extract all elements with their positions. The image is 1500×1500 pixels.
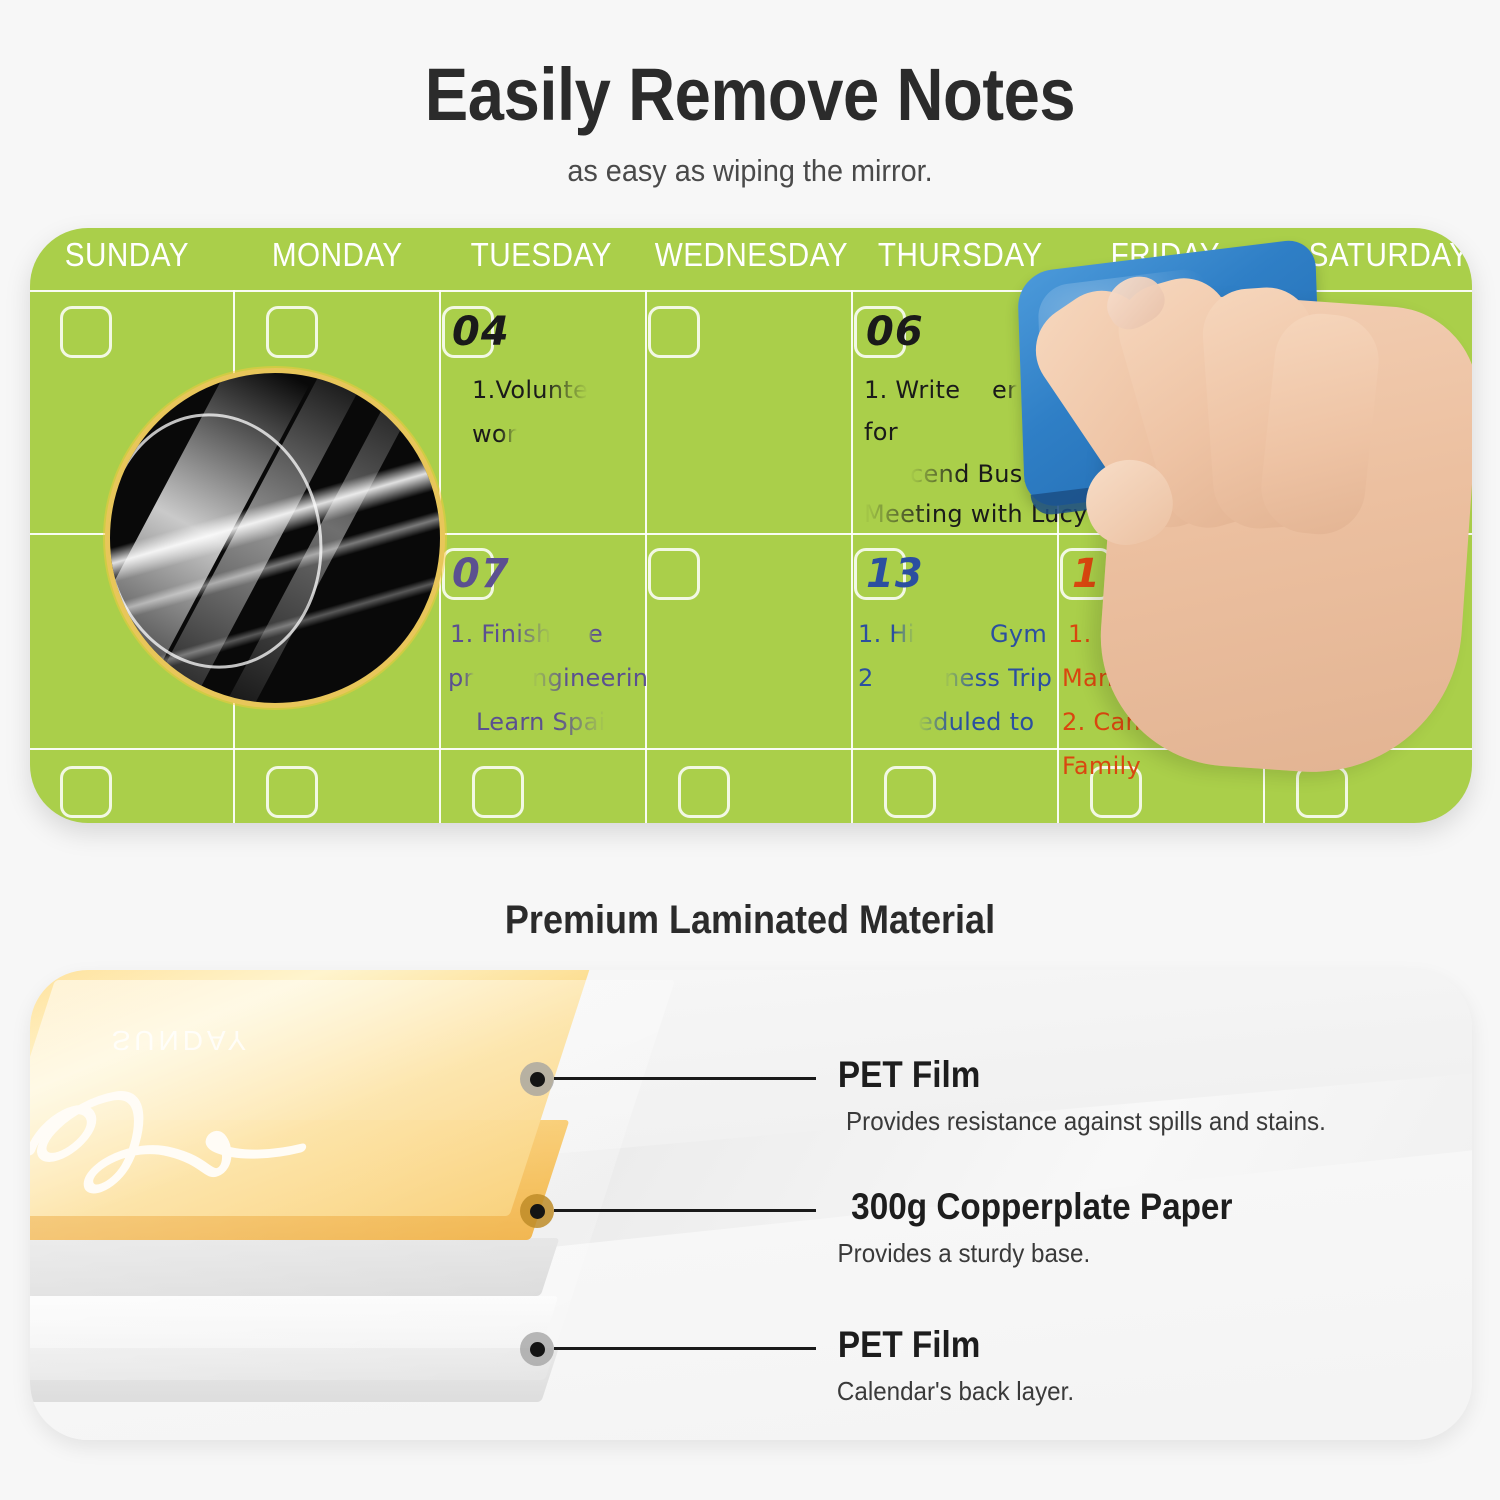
callout-dot-icon [520,1194,554,1228]
date-box-empty [884,766,936,818]
callout-description: Calendar's back layer. [837,1376,1074,1407]
note-text: e [588,620,603,648]
date-box-empty [266,766,318,818]
material-section-title: Premium Laminated Material [75,898,1425,943]
callout-leader-line [554,1077,816,1080]
date-box-empty [266,306,318,358]
date-number: 06 [866,306,924,358]
date-number: 13 [866,548,924,600]
date-box-empty [60,306,112,358]
hand-with-eraser [990,248,1472,823]
note-text: 1. Write [864,376,960,404]
note-text: wor [472,420,517,448]
callout-leader-line [554,1209,816,1212]
callout-description: Provides a sturdy base. [838,1238,1091,1269]
page-subtitle: as easy as wiping the mirror. [53,153,1448,189]
date-box-empty [60,766,112,818]
date-box-empty [678,766,730,818]
date-box-empty [472,766,524,818]
day-header-wednesday: WEDNESDAY [654,228,847,290]
calendar-panel: SUNDAY MONDAY TUESDAY WEDNESDAY THURSDAY… [30,228,1472,823]
day-header-monday: MONDAY [245,228,429,290]
note-text: Learn Spai [476,708,606,736]
callout-dot-icon [520,1332,554,1366]
callout-title: PET Film [838,1324,980,1366]
page-title: Easily Remove Notes [90,52,1410,137]
date-number: 04 [452,306,510,358]
page-header: Easily Remove Notes as easy as wiping th… [0,0,1500,189]
date-box-empty [648,306,700,358]
day-header-sunday: SUNDAY [35,228,219,290]
day-header-tuesday: TUESDAY [449,228,633,290]
callout-title: 300g Copperplate Paper [851,1186,1232,1228]
note-text: 1. Finish [450,620,552,648]
date-box-empty [648,548,700,600]
note-text: 1.Volunte [472,376,588,404]
grid-line-v3 [645,290,647,823]
note-text: 1. Hi [858,620,915,648]
material-card: SUNDAY PET Film Provides resistance agai… [30,970,1472,1440]
pet-film-inset-photo [105,368,445,708]
grid-line-v4 [851,290,853,823]
callout-leader-line [554,1347,816,1350]
date-number: 07 [452,548,510,600]
callout-dot-icon [520,1062,554,1096]
note-text: for [864,418,898,446]
note-text: 2 [858,664,874,692]
callout-title: PET Film [838,1054,980,1096]
note-text: pr [448,664,474,692]
note-text: ngineerin [532,664,648,692]
callout-description: Provides resistance against spills and s… [846,1106,1326,1137]
